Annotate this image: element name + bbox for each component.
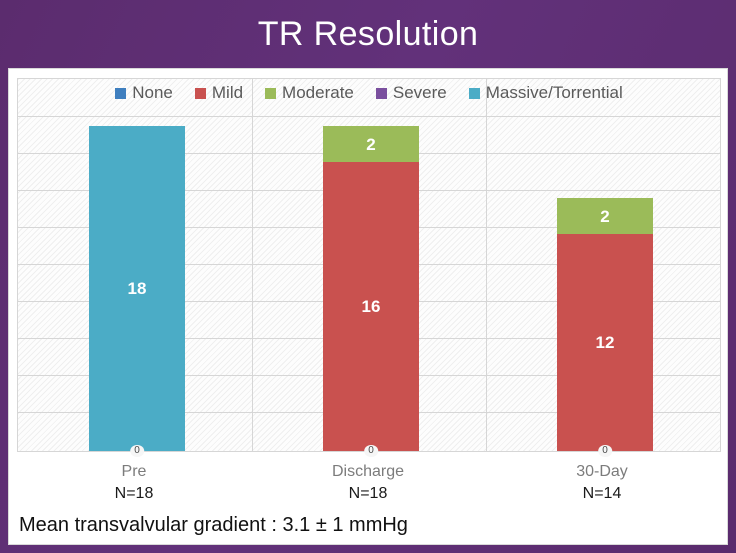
legend-item-severe[interactable]: Severe bbox=[376, 83, 447, 103]
legend-label-none: None bbox=[132, 83, 173, 103]
bar-segment-discharge-mild[interactable]: 16 bbox=[323, 162, 419, 451]
bar-segment-pre-massive-torrential[interactable]: 18 bbox=[89, 126, 185, 451]
bar-group-discharge: 16 2 0 bbox=[323, 126, 419, 451]
category-label-30-day: 30-Day bbox=[485, 461, 719, 483]
bar-baseline-zero-pre: 0 bbox=[130, 445, 144, 457]
category-axis: Pre N=18 Discharge N=18 30-Day N=14 bbox=[17, 461, 721, 521]
category-n-30-day: N=14 bbox=[485, 483, 719, 505]
bar-baseline-zero-discharge: 0 bbox=[364, 445, 378, 457]
category-cell-30-day: 30-Day N=14 bbox=[485, 461, 719, 505]
legend-swatch-severe bbox=[376, 88, 387, 99]
legend-label-mild: Mild bbox=[212, 83, 243, 103]
legend-label-moderate: Moderate bbox=[282, 83, 354, 103]
legend-item-mild[interactable]: Mild bbox=[195, 83, 243, 103]
category-label-pre: Pre bbox=[17, 461, 251, 483]
category-n-discharge: N=18 bbox=[251, 483, 485, 505]
legend-swatch-moderate bbox=[265, 88, 276, 99]
bar-segment-30-day-moderate[interactable]: 2 bbox=[557, 198, 653, 234]
category-label-discharge: Discharge bbox=[251, 461, 485, 483]
chart-legend: None Mild Moderate Severe Massive/Torren… bbox=[17, 80, 721, 106]
chart-panel: None Mild Moderate Severe Massive/Torren… bbox=[8, 68, 728, 545]
bar-baseline-zero-30-day: 0 bbox=[598, 445, 612, 457]
bar-value-30-day-mild: 12 bbox=[596, 334, 615, 351]
mean-gradient-caption: Mean transvalvular gradient : 3.1 ± 1 mm… bbox=[19, 514, 408, 537]
bar-value-30-day-moderate: 2 bbox=[600, 208, 609, 225]
category-cell-pre: Pre N=18 bbox=[17, 461, 251, 505]
bar-value-discharge-moderate: 2 bbox=[366, 136, 375, 153]
category-cell-discharge: Discharge N=18 bbox=[251, 461, 485, 505]
bar-group-30-day: 12 2 0 bbox=[557, 198, 653, 451]
legend-item-none[interactable]: None bbox=[115, 83, 173, 103]
bar-group-pre: 18 0 bbox=[89, 126, 185, 451]
bar-value-discharge-mild: 16 bbox=[362, 298, 381, 315]
plot-wrapper: None Mild Moderate Severe Massive/Torren… bbox=[17, 78, 721, 452]
legend-label-severe: Severe bbox=[393, 83, 447, 103]
legend-swatch-mild bbox=[195, 88, 206, 99]
bar-segment-30-day-mild[interactable]: 12 bbox=[557, 234, 653, 451]
legend-swatch-massive-torrential bbox=[469, 88, 480, 99]
category-n-pre: N=18 bbox=[17, 483, 251, 505]
legend-item-moderate[interactable]: Moderate bbox=[265, 83, 354, 103]
bar-segment-discharge-moderate[interactable]: 2 bbox=[323, 126, 419, 162]
legend-label-massive-torrential: Massive/Torrential bbox=[486, 83, 623, 103]
legend-item-massive-torrential[interactable]: Massive/Torrential bbox=[469, 83, 623, 103]
page-title: TR Resolution bbox=[0, 8, 736, 60]
bar-value-pre-massive-torrential: 18 bbox=[128, 280, 147, 297]
bars-layer: 18 0 16 2 0 12 bbox=[18, 79, 720, 451]
legend-swatch-none bbox=[115, 88, 126, 99]
slide-root: TR Resolution None bbox=[0, 0, 736, 553]
